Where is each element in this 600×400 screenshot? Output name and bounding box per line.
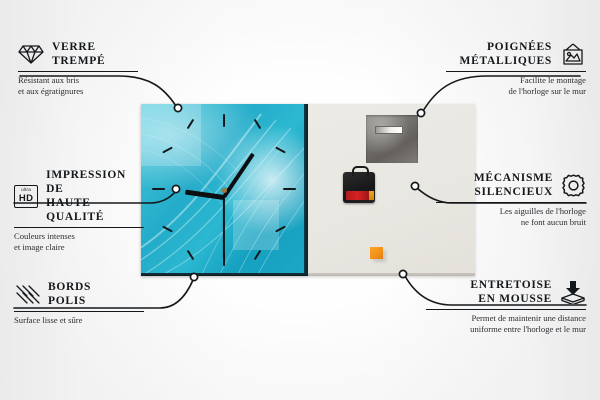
feature-desc-line1: Couleurs intenses [14, 231, 144, 242]
ultra-hd-icon: ultra HD [14, 185, 38, 208]
polished-edges-icon [14, 283, 40, 305]
feature-rule [446, 71, 586, 72]
feature-desc-line1: Les aiguilles de l'horloge [436, 206, 586, 217]
feature-description: Permet de maintenir une distance uniform… [426, 313, 586, 336]
feature-title-line2: SILENCIEUX [474, 185, 553, 199]
feature-title-line1: VERRE [52, 40, 105, 54]
feature-title-line2: EN MOUSSE [470, 292, 552, 306]
feature-entretoise-en-mousse[interactable]: ENTRETOISE EN MOUSSE Permet de maintenir… [426, 278, 586, 336]
feature-title: ENTRETOISE EN MOUSSE [470, 278, 552, 306]
feature-title: IMPRESSION DE HAUTE QUALITÉ [46, 168, 144, 224]
picture-hanger-icon [560, 43, 586, 66]
hour-hand [185, 189, 224, 199]
feature-description: Les aiguilles de l'horloge ne font aucun… [436, 206, 586, 229]
panel-base-shadow [141, 273, 308, 276]
feature-title: MÉCANISME SILENCIEUX [474, 171, 553, 199]
feature-title-line1: BORDS [48, 280, 91, 294]
clock-pivot [222, 188, 227, 193]
gear-icon [561, 173, 586, 198]
feature-title: POIGNÉES MÉTALLIQUES [460, 40, 552, 68]
feature-heading: ultra HD IMPRESSION DE HAUTE QUALITÉ [14, 168, 144, 224]
feature-desc-line1: Surface lisse et sûre [14, 315, 144, 326]
panel-base-shadow [308, 273, 475, 276]
feature-poignees-metalliques[interactable]: POIGNÉES MÉTALLIQUES Facilite le montage… [446, 40, 586, 98]
feature-title-line2: TREMPÉ [52, 54, 105, 68]
feature-title-line2: MÉTALLIQUES [460, 54, 552, 68]
metal-hanging-bracket [366, 115, 418, 163]
feature-desc-line2: uniforme entre l'horloge et le mur [426, 324, 586, 335]
mechanism-hook [352, 166, 369, 176]
feature-heading: BORDS POLIS [14, 280, 144, 308]
clock-face [141, 104, 308, 276]
feature-title-line1: ENTRETOISE [470, 278, 552, 292]
feature-title: VERRE TREMPÉ [52, 40, 105, 68]
feature-title: BORDS POLIS [48, 280, 91, 308]
feature-mecanisme-silencieux[interactable]: MÉCANISME SILENCIEUX Les aiguilles de l'… [436, 171, 586, 229]
feature-description: Résistant aux bris et aux égratignures [18, 75, 138, 98]
feature-verre-trempe[interactable]: VERRE TREMPÉ Résistant aux bris et aux é… [18, 40, 138, 98]
minute-hand [222, 153, 254, 198]
feature-desc-line1: Résistant aux bris [18, 75, 138, 86]
ultra-hd-icon-main-text: HD [19, 194, 33, 204]
feature-description: Couleurs intenses et image claire [14, 231, 144, 254]
feature-title-line2: HAUTE QUALITÉ [46, 196, 144, 224]
feature-title-line1: MÉCANISME [474, 171, 553, 185]
feature-heading: MÉCANISME SILENCIEUX [436, 171, 586, 199]
feature-impression-haute-qualite[interactable]: ultra HD IMPRESSION DE HAUTE QUALITÉ Cou… [14, 168, 144, 254]
clock-front-panel [141, 104, 308, 276]
bracket-slot [375, 126, 403, 134]
feature-desc-line2: et aux égratignures [18, 86, 138, 97]
feature-description: Surface lisse et sûre [14, 315, 144, 326]
feature-rule [14, 311, 144, 312]
feature-desc-line1: Facilite le montage [446, 75, 586, 86]
feature-rule [14, 227, 144, 228]
feature-rule [436, 202, 586, 203]
feature-rule [18, 71, 138, 72]
feature-desc-line2: ne font aucun bruit [436, 217, 586, 228]
feature-title-line1: IMPRESSION DE [46, 168, 144, 196]
feature-heading: VERRE TREMPÉ [18, 40, 138, 68]
clock-mechanism [343, 172, 375, 203]
feature-rule [426, 309, 586, 310]
feature-title-line1: POIGNÉES [460, 40, 552, 54]
feature-title-line2: POLIS [48, 294, 91, 308]
diamond-icon [18, 43, 44, 65]
feature-heading: POIGNÉES MÉTALLIQUES [446, 40, 586, 68]
product-image [141, 104, 475, 276]
feature-heading: ENTRETOISE EN MOUSSE [426, 278, 586, 306]
feature-bords-polis[interactable]: BORDS POLIS Surface lisse et sûre [14, 280, 144, 326]
battery-terminal [369, 191, 374, 200]
infographic-canvas: VERRE TREMPÉ Résistant aux bris et aux é… [0, 0, 600, 400]
feature-desc-line1: Permet de maintenir une distance [426, 313, 586, 324]
feature-description: Facilite le montage de l'horloge sur le … [446, 75, 586, 98]
foam-spacer [370, 247, 383, 259]
foam-spacer-icon [560, 280, 586, 304]
feature-desc-line2: de l'horloge sur le mur [446, 86, 586, 97]
second-hand [223, 197, 225, 259]
feature-desc-line2: et image claire [14, 242, 144, 253]
